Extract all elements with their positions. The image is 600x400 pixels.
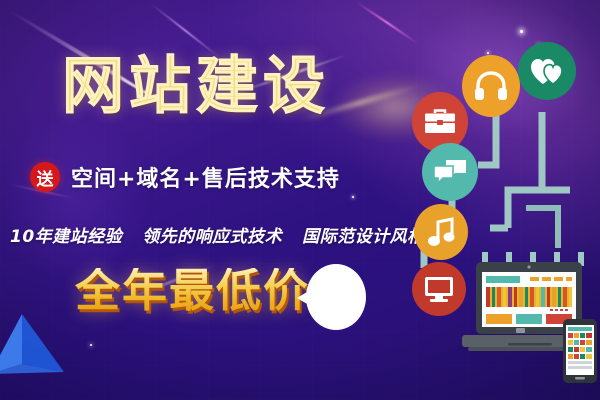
feature-item-1: 10年建站经验	[10, 222, 122, 247]
subtitle-row: 送 空间+域名+售后技术支持	[30, 161, 340, 193]
speech-bubble-icon	[296, 261, 368, 335]
chat-bubbles-icon	[422, 143, 478, 201]
feature-item-2: 领先的响应式技术	[142, 222, 282, 247]
pyramid-triangle-icon	[0, 312, 68, 384]
price-slogan-row: 全年最低价	[75, 268, 310, 313]
hearts-icon	[518, 42, 576, 100]
briefcase-icon	[412, 92, 468, 152]
page-title: 网站建设	[62, 55, 330, 117]
subtitle-text: 空间+域名+售后技术支持	[71, 161, 340, 193]
headphones-icon	[462, 55, 520, 117]
gift-badge: 送	[30, 162, 60, 192]
website-construction-banner: 网站建设 送 空间+域名+售后技术支持 10年建站经验 领先的响应式技术 国际范…	[0, 0, 600, 400]
phone-mockup	[562, 318, 598, 384]
tech-illustration	[390, 0, 600, 400]
price-slogan: 全年最低价	[75, 268, 310, 313]
feature-list: 10年建站经验 领先的响应式技术 国际范设计风格	[10, 222, 425, 247]
